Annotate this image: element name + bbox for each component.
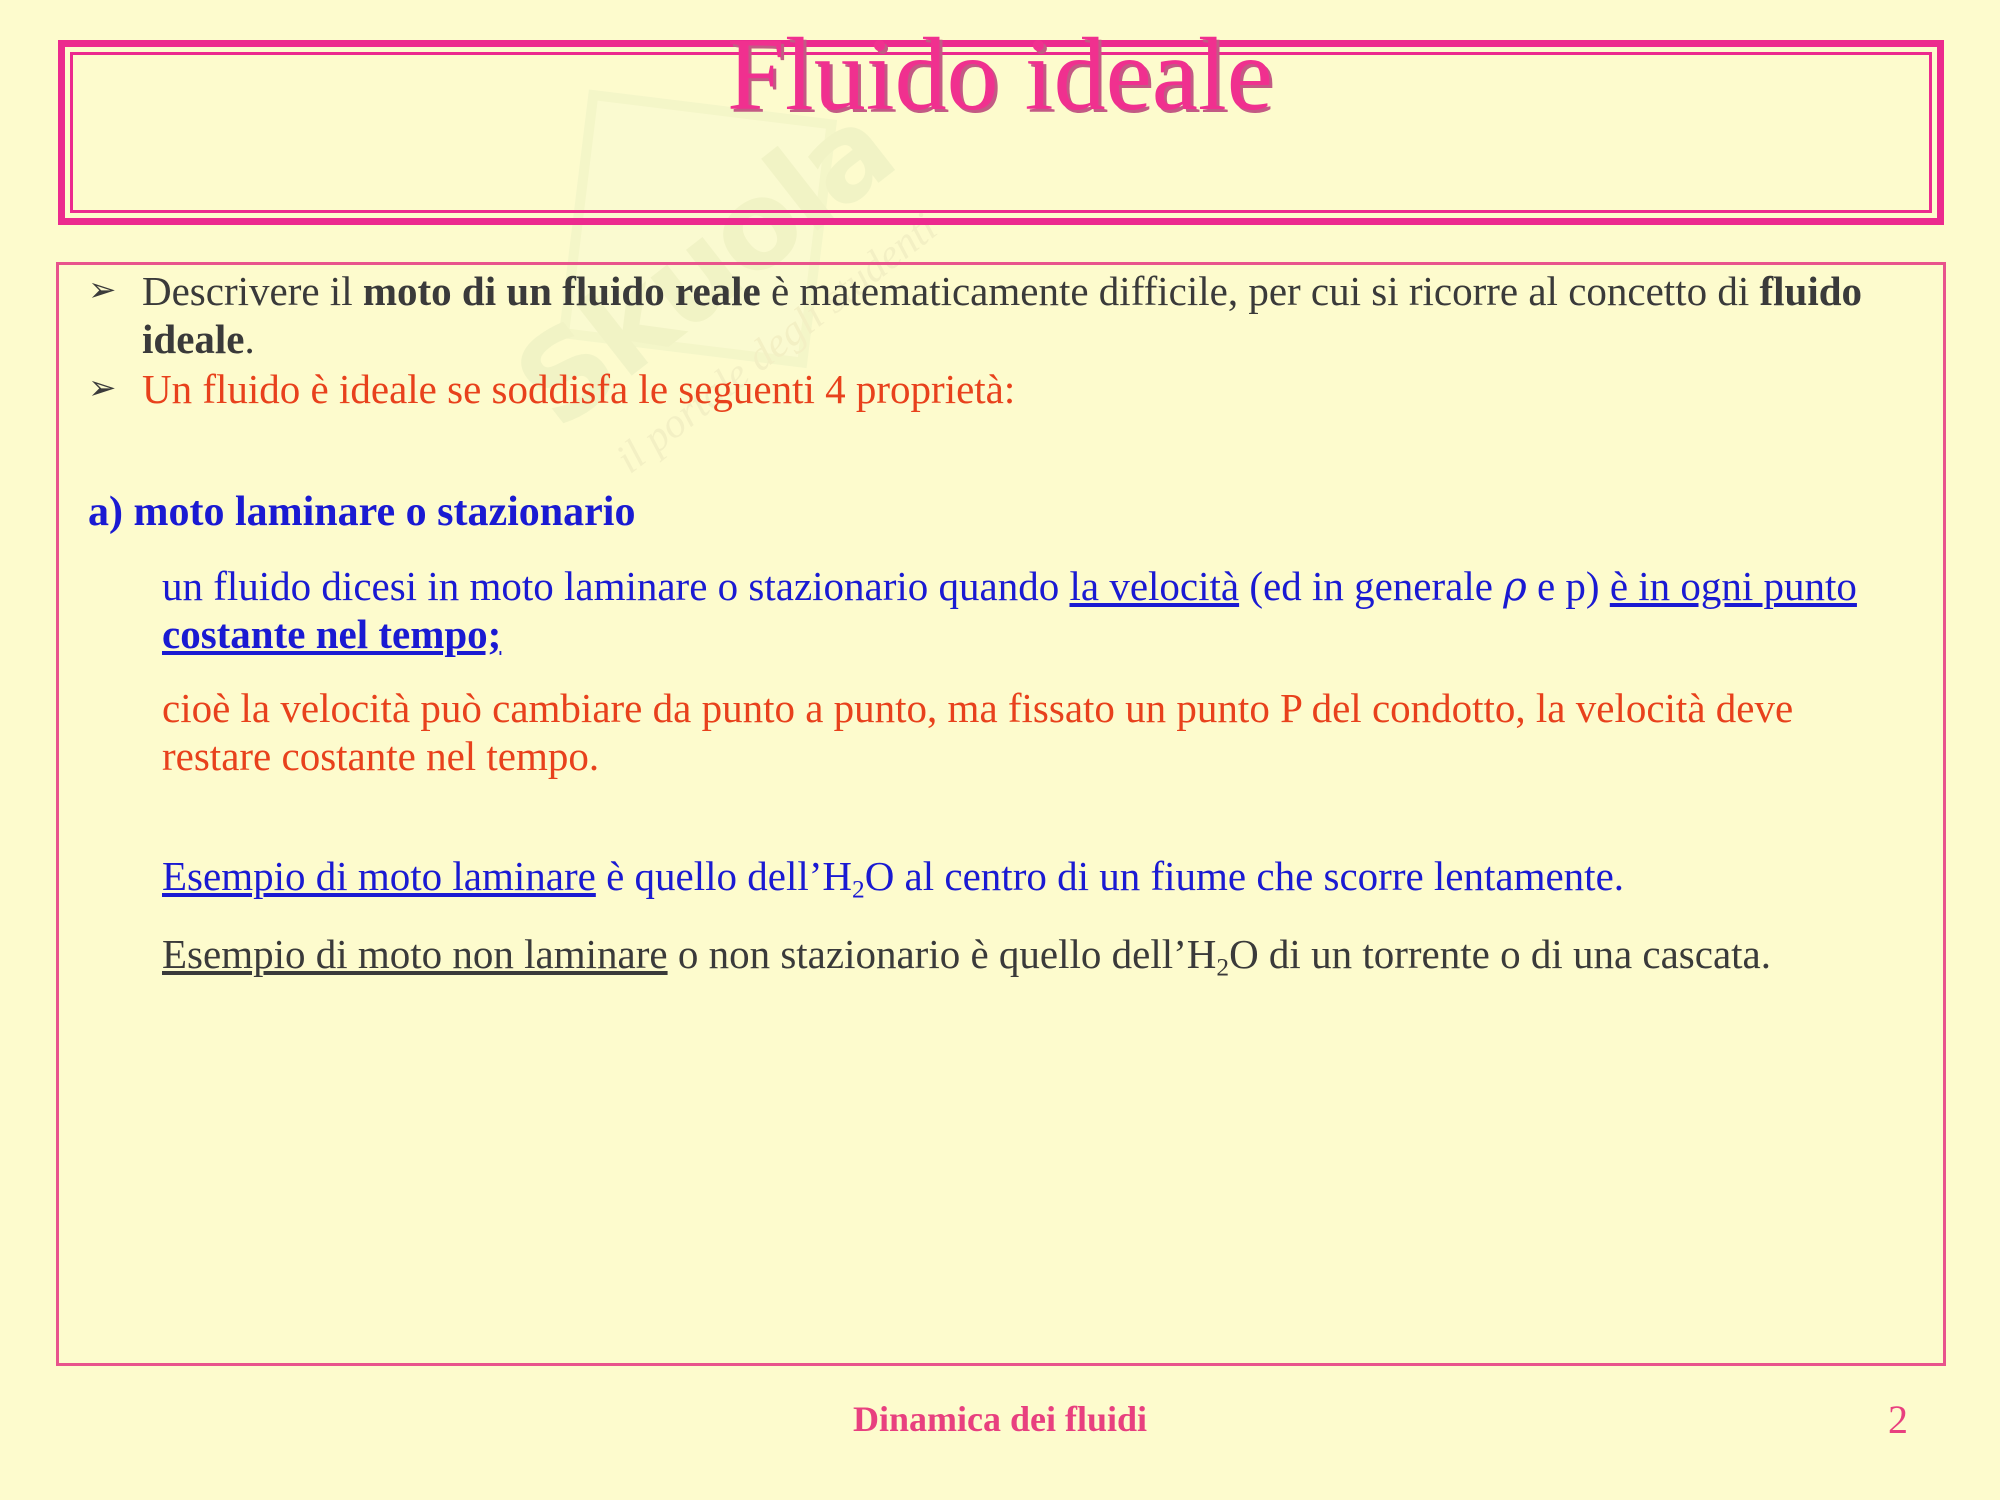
slide-canvas: Skuola il portale degli studenti Fluido … <box>0 0 2000 1500</box>
spacer <box>70 659 1940 685</box>
page-title: Fluido ideale <box>0 18 2000 132</box>
spacer <box>70 416 1940 488</box>
example-laminar-paragraph: Esempio di moto laminare è quello dell’H… <box>70 853 1940 905</box>
arrow-bullet-icon: ➢ <box>70 366 142 412</box>
example-non-laminar-paragraph: Esempio di moto non laminare o non stazi… <box>70 931 1940 983</box>
bullet-item-1: ➢ Descrivere il moto di un fluido reale … <box>70 268 1940 364</box>
section-a-clarification-paragraph: cioè la velocità può cambiare da punto a… <box>70 685 1940 781</box>
slide-content: ➢ Descrivere il moto di un fluido reale … <box>70 268 1940 984</box>
bullet-1-text: Descrivere il moto di un fluido reale è … <box>142 268 1940 364</box>
page-number: 2 <box>1888 1396 1908 1443</box>
spacer <box>70 905 1940 931</box>
bullet-item-2: ➢ Un fluido è ideale se soddisfa le segu… <box>70 366 1940 414</box>
section-a-definition-paragraph: un fluido dicesi in moto laminare o staz… <box>70 563 1940 659</box>
footer-title: Dinamica dei fluidi <box>0 1398 2000 1440</box>
arrow-bullet-icon: ➢ <box>70 268 142 314</box>
section-a-heading: a) moto laminare o stazionario <box>70 488 1940 537</box>
spacer <box>70 537 1940 563</box>
bullet-2-text: Un fluido è ideale se soddisfa le seguen… <box>142 366 1940 414</box>
spacer <box>70 781 1940 853</box>
